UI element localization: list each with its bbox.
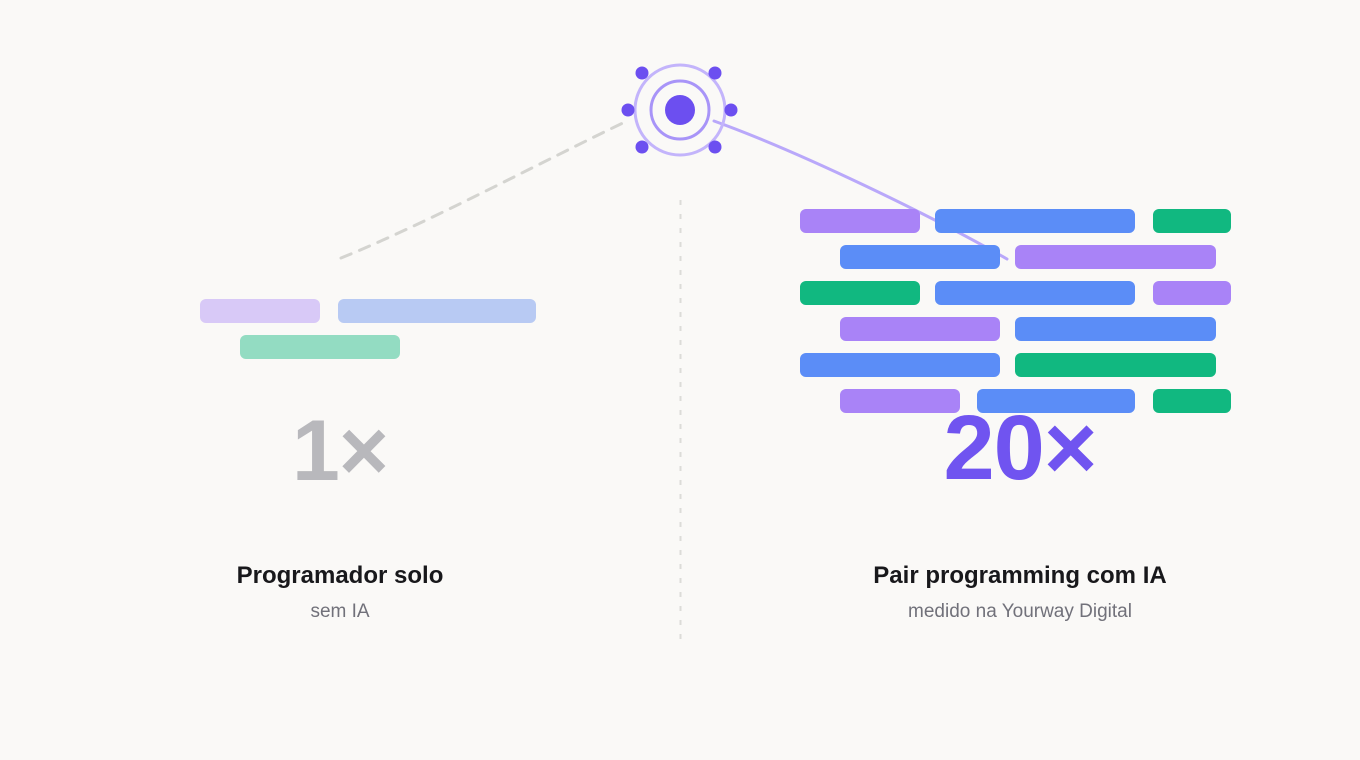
ai-atom-icon <box>622 65 738 155</box>
code-bar <box>1015 353 1216 377</box>
code-bar <box>935 281 1135 305</box>
code-bar-row <box>200 299 536 323</box>
ai-caption: Pair programming com IA medido na Yourwa… <box>680 562 1360 624</box>
code-bar <box>840 317 1000 341</box>
solo-subtitle: sem IA <box>0 601 680 624</box>
code-bar <box>800 281 920 305</box>
ai-code-bars <box>800 209 1231 425</box>
slow-path-curve <box>341 122 625 258</box>
code-bar-row <box>800 281 1231 305</box>
code-bar <box>800 209 920 233</box>
atom-orbit-dot <box>622 104 635 117</box>
code-bar-row <box>800 317 1231 341</box>
solo-caption: Programador solo sem IA <box>0 562 680 624</box>
solo-code-bars <box>200 299 536 371</box>
code-bar <box>935 209 1135 233</box>
atom-inner-ring <box>651 81 709 139</box>
code-bar <box>240 335 400 359</box>
code-bar <box>1153 209 1231 233</box>
code-bar <box>1015 245 1216 269</box>
code-bar <box>840 245 1000 269</box>
ai-multiplier: 20× <box>680 402 1360 494</box>
code-bar <box>338 299 536 323</box>
solo-title: Programador solo <box>0 562 680 591</box>
atom-orbit-dot <box>709 141 722 154</box>
code-bar <box>800 353 1000 377</box>
code-bar <box>1015 317 1216 341</box>
atom-orbit-dot <box>725 104 738 117</box>
productivity-comparison-illustration: 1× Programador solo sem IA 20× Pair prog… <box>0 0 1360 760</box>
ai-subtitle: medido na Yourway Digital <box>680 601 1360 624</box>
code-bar-row <box>800 209 1231 233</box>
solo-multiplier: 1× <box>0 408 680 494</box>
atom-outer-ring <box>635 65 725 155</box>
ai-title: Pair programming com IA <box>680 562 1360 591</box>
atom-orbit-dot <box>636 67 649 80</box>
atom-orbit-dot <box>709 67 722 80</box>
code-bar-row <box>800 245 1231 269</box>
code-bar-row <box>200 335 536 359</box>
atom-orbit-dot <box>636 141 649 154</box>
atom-core <box>665 95 695 125</box>
code-bar <box>1153 281 1231 305</box>
code-bar-row <box>800 353 1231 377</box>
code-bar <box>200 299 320 323</box>
